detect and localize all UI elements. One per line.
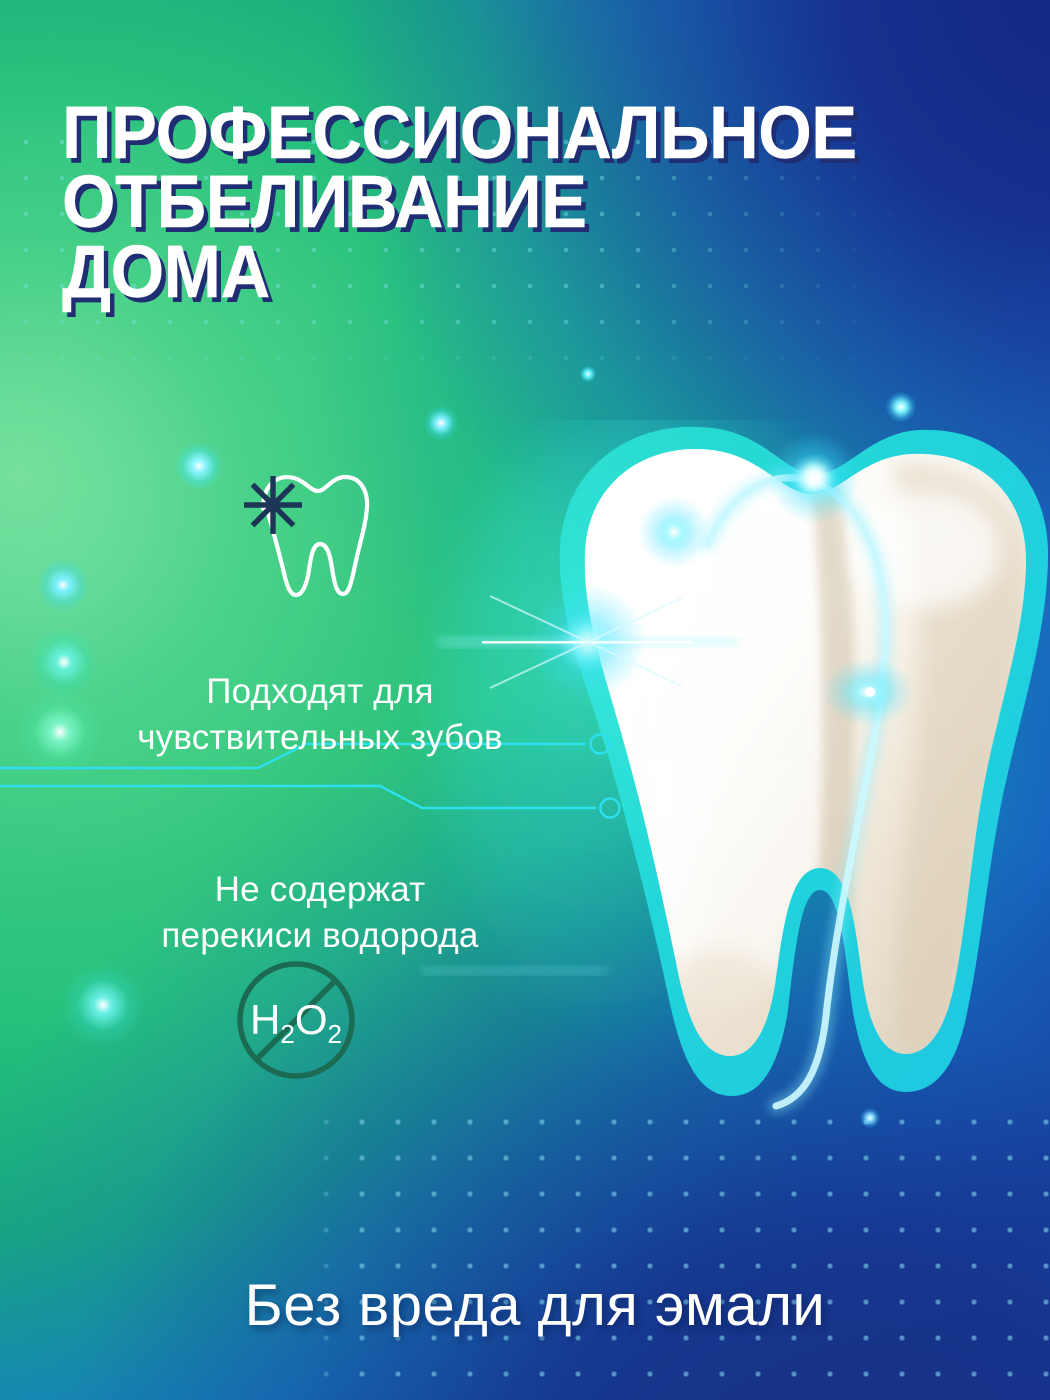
page-title: ПРОФЕССИОНАЛЬНОЕ ОТБЕЛИВАНИЕ ДОМА [62,98,918,307]
connector-line-bottom [0,786,596,808]
connector-end-circle [601,799,620,818]
tooth-outline [263,477,367,595]
formula-sub-1: 2 [280,1019,294,1049]
flare-top-cusp [768,432,860,524]
promo-poster: ПРОФЕССИОНАЛЬНОЕ ОТБЕЛИВАНИЕ ДОМА [0,0,1050,1400]
tooth-sparkle-icon [222,466,370,606]
formula-o: O [295,996,328,1043]
no-h2o2-icon: H2O2 [232,956,360,1084]
flare-second-cusp [638,496,710,568]
tagline: Без вреда для эмали [0,1272,1050,1339]
h2o2-formula: H2O2 [250,996,342,1049]
flare-mid-shine [822,658,914,726]
feature-label-sensitive-teeth: Подходят для чувствительных зубов [40,669,600,761]
sparkle-icon [244,476,302,534]
flare-lower-left [420,968,608,973]
formula-sub-2: 2 [328,1019,342,1049]
formula-h: H [250,996,280,1043]
feature-label-no-peroxide: Не содержат перекиси водорода [40,867,600,959]
